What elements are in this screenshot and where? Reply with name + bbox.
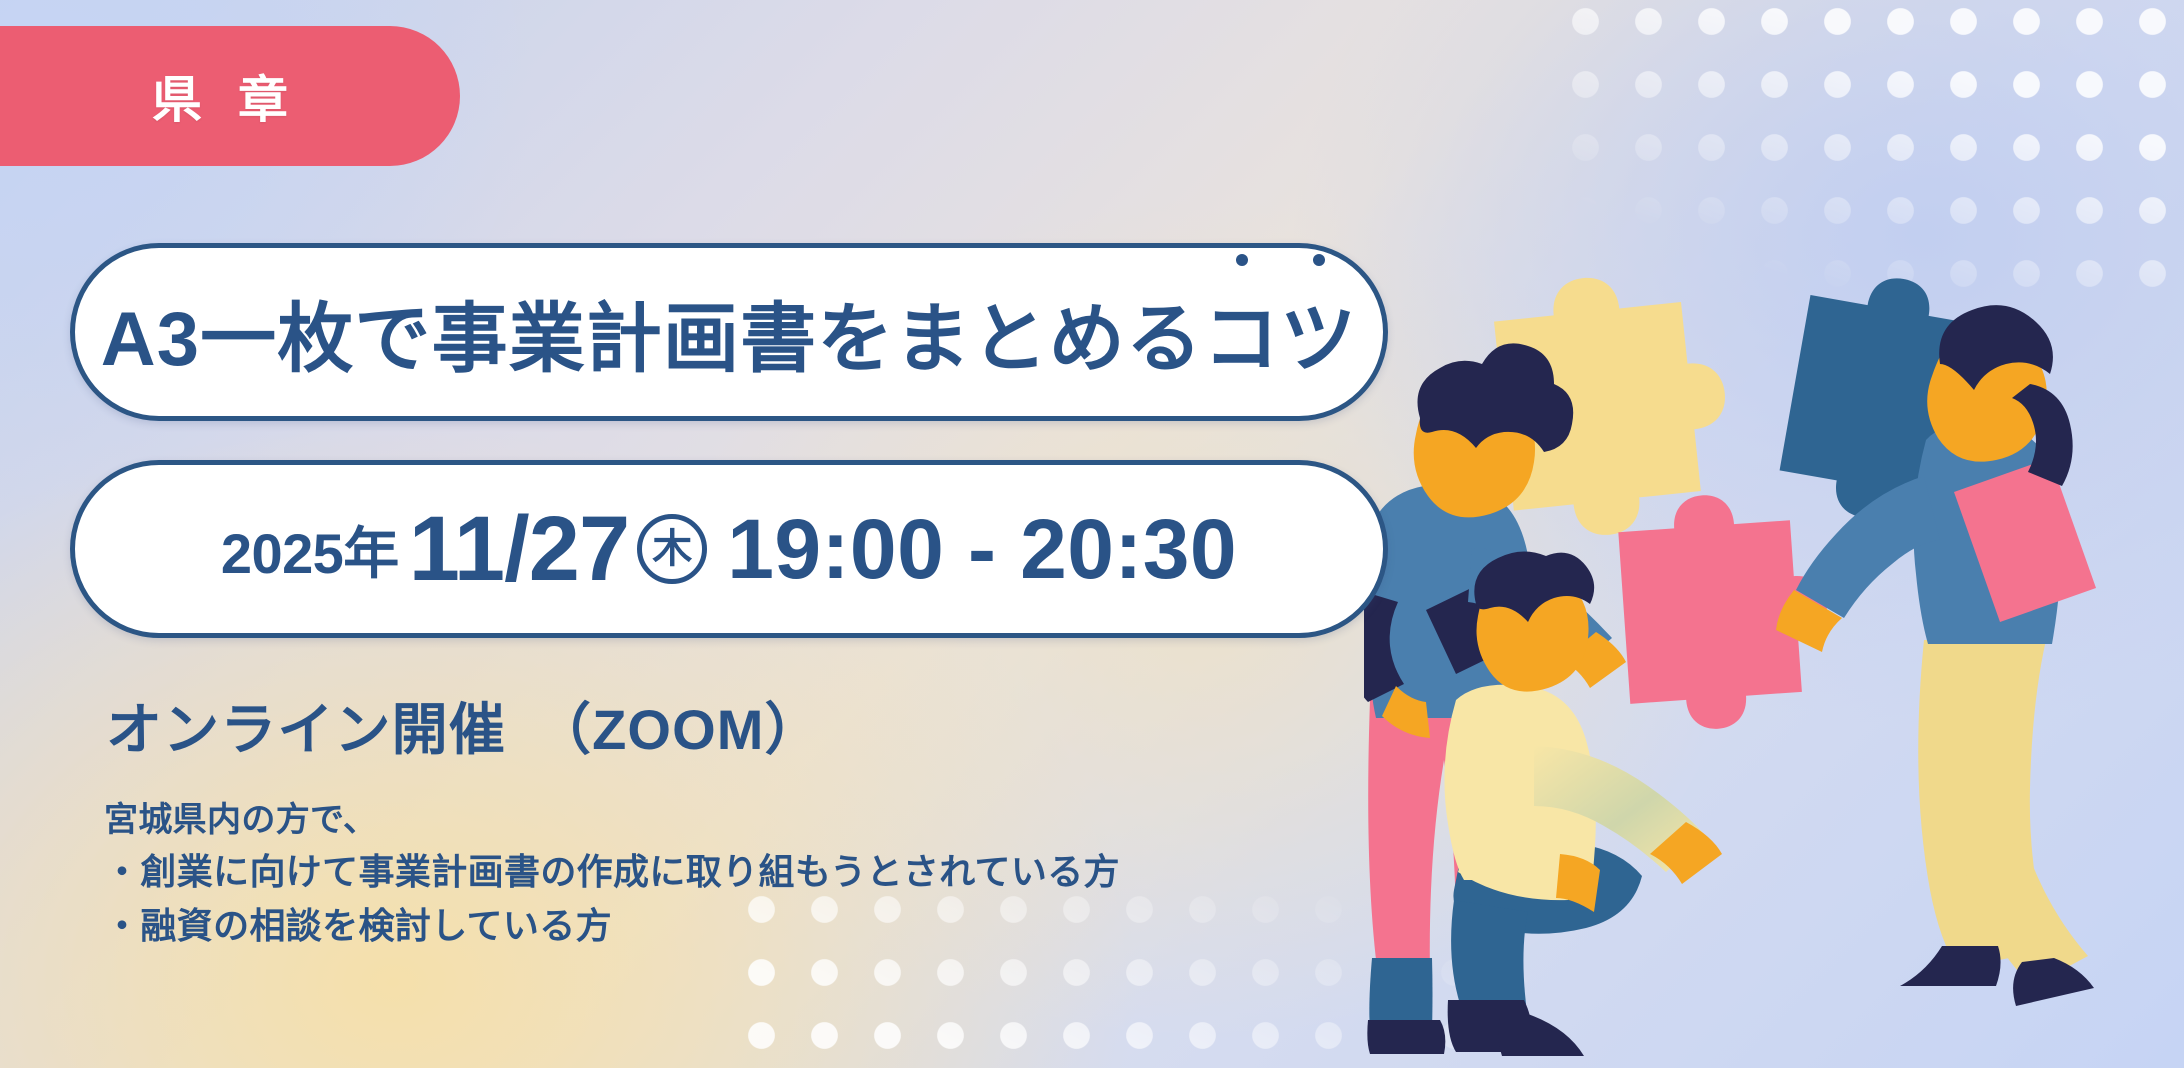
date-day-of-week: 木 [637, 514, 707, 584]
date-month-day: 11/27 [409, 497, 630, 602]
seminar-title-emphasis-1: コ [1203, 277, 1280, 387]
person-left [1364, 343, 1626, 1054]
dot-pattern-top-right [1554, 0, 2184, 320]
target-audience-line-2: ・融資の相談を検討している方 [104, 899, 1120, 952]
seminar-title: A3一枚で事業計画書をまとめるコツ [101, 277, 1358, 387]
date-pill: 2025年 11/27 木 19:00 - 20:30 [70, 460, 1388, 638]
title-pill: A3一枚で事業計画書をまとめるコツ [70, 243, 1388, 421]
puzzle-piece-pink [1616, 487, 1835, 735]
seminar-title-emphasis-2: ツ [1280, 277, 1357, 387]
puzzle-piece-blue [1774, 264, 2023, 539]
target-audience-block: 宮城県内の方で、 ・創業に向けて事業計画書の作成に取り組もうとされている方 ・融… [104, 795, 1120, 952]
date-time-range: 19:00 - 20:30 [727, 501, 1237, 598]
people-with-puzzle-pieces-illustration [1364, 0, 2184, 1068]
prefecture-badge-label: 県 章 [141, 60, 299, 132]
person-center [1444, 551, 1722, 1056]
person-right [1776, 305, 2096, 1006]
prefecture-badge: 県 章 [0, 26, 460, 166]
puzzle-piece-yellow [1490, 265, 1738, 545]
seminar-datetime: 2025年 11/27 木 19:00 - 20:30 [221, 497, 1237, 602]
target-audience-line-0: 宮城県内の方で、 [104, 795, 1120, 845]
target-audience-line-1: ・創業に向けて事業計画書の作成に取り組もうとされている方 [104, 845, 1120, 898]
event-format-subtitle: オンライン開催 （ZOOM） [106, 685, 822, 766]
date-year: 2025年 [221, 509, 399, 590]
seminar-banner: 県 章 A3一枚で事業計画書をまとめるコツ 2025年 11/27 木 19:0… [0, 0, 2184, 1068]
seminar-title-main: A3一枚で事業計画書をまとめる [101, 277, 1203, 387]
